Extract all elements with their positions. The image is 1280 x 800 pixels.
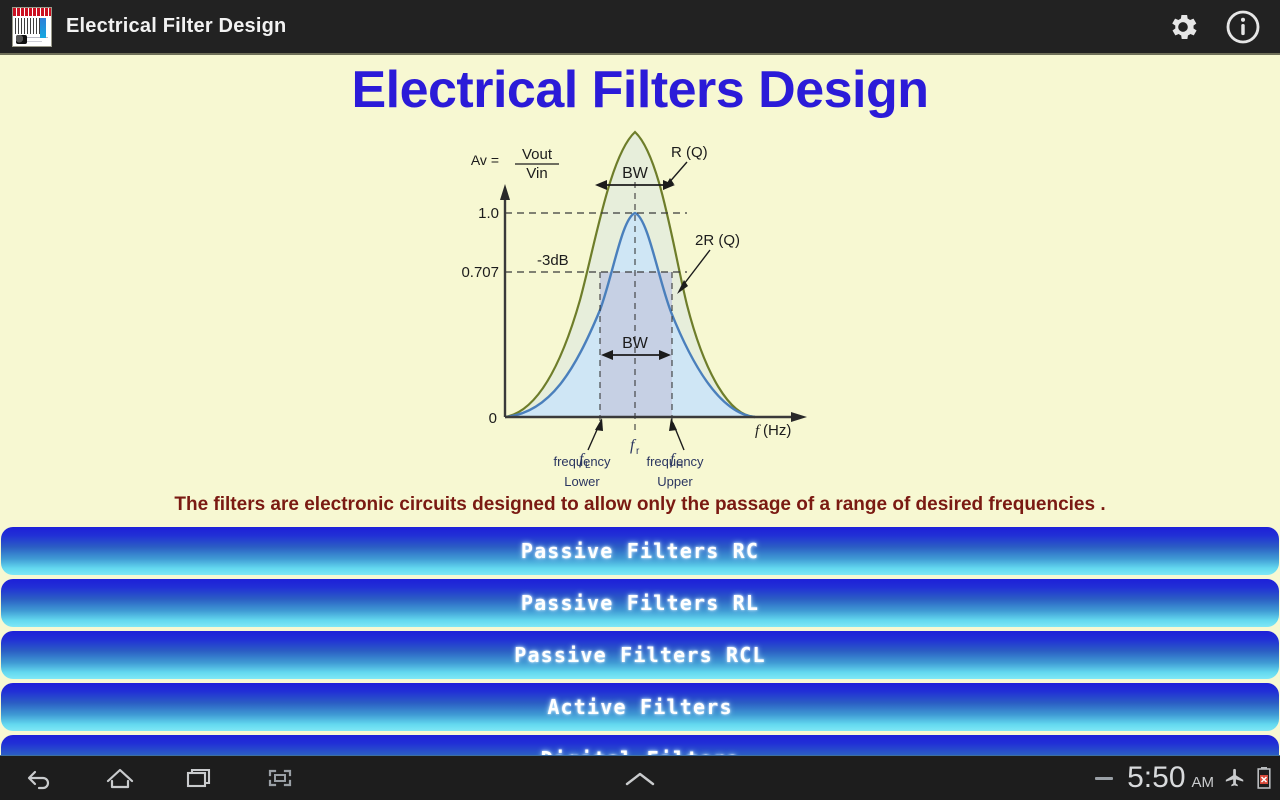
filter-button-label: Active Filters: [547, 695, 732, 719]
android-navigation-bar: 5:50 AM: [0, 755, 1280, 800]
filter-button-passive-rc[interactable]: Passive Filters RC: [1, 527, 1279, 575]
tick-label-1.0: 1.0: [478, 205, 499, 222]
bw-bottom-label: BW: [622, 335, 649, 352]
battery-error-icon: [1256, 766, 1272, 790]
back-icon[interactable]: [0, 756, 80, 800]
fl-caption-line1: Lower: [564, 474, 600, 489]
main-content: Electrical Filters Design: [0, 55, 1280, 755]
clock-ampm: AM: [1192, 775, 1215, 790]
notification-dash-icon: [1095, 777, 1113, 780]
title-bar: Electrical Filter Design: [0, 0, 1280, 55]
clock-time: 5:50: [1127, 763, 1185, 793]
chevron-up-icon[interactable]: [600, 756, 680, 800]
bw-top-label: BW: [622, 165, 649, 182]
bw-top-arrow-left: [595, 180, 607, 190]
filter-button-passive-rl[interactable]: Passive Filters RL: [1, 579, 1279, 627]
app-root: Electrical Filter Design Electrical Filt…: [0, 0, 1280, 800]
filter-app-icon: [12, 7, 52, 47]
x-axis-label-f: f: [755, 423, 761, 439]
fh-caption-line2: frequency: [646, 454, 703, 469]
x-axis-arrowhead: [791, 412, 807, 422]
filter-response-chart: Av = Vout Vin 1.0 0.707 0 -3dB BW BW R (…: [455, 120, 825, 490]
filter-button-active[interactable]: Active Filters: [1, 683, 1279, 731]
info-icon[interactable]: [1220, 4, 1266, 50]
filter-button-label: Passive Filters RL: [521, 591, 759, 615]
figure-container: Av = Vout Vin 1.0 0.707 0 -3dB BW BW R (…: [0, 120, 1280, 490]
home-icon[interactable]: [80, 756, 160, 800]
y-axis-ratio-prefix: Av =: [471, 152, 499, 168]
filter-button-label: Passive Filters RCL: [514, 643, 766, 667]
app-title: Electrical Filter Design: [66, 15, 286, 38]
app-icon-knob: [16, 35, 27, 44]
screenshot-icon[interactable]: [240, 756, 320, 800]
filter-button-list: Passive Filters RC Passive Filters RL Pa…: [0, 527, 1280, 783]
y-axis-arrowhead: [500, 184, 510, 200]
x-axis-label-hz: (Hz): [763, 422, 791, 439]
pointer-fL-head: [595, 418, 603, 431]
description-text: The filters are electronic circuits desi…: [0, 494, 1280, 516]
page-title: Electrical Filters Design: [0, 55, 1280, 118]
fh-caption-line1: Upper: [657, 474, 693, 489]
curve-outer-label: R (Q): [671, 144, 708, 161]
filter-button-passive-rcl[interactable]: Passive Filters RCL: [1, 631, 1279, 679]
fr-subscript: r: [636, 446, 640, 457]
pointer-fH-head: [669, 418, 677, 431]
y-axis-ratio-denominator: Vin: [526, 165, 547, 182]
navbar-status-group: 5:50 AM: [1095, 756, 1272, 800]
recents-icon[interactable]: [160, 756, 240, 800]
app-icon-waveform: [15, 18, 41, 34]
curve-inner-label: 2R (Q): [695, 232, 740, 249]
tick-label-0.707: 0.707: [461, 264, 499, 281]
fl-caption-line2: frequency: [553, 454, 610, 469]
app-icon-probe: [40, 18, 46, 38]
tick-label-0: 0: [489, 410, 497, 427]
y-axis-ratio-numerator: Vout: [522, 146, 553, 163]
status-clock[interactable]: 5:50 AM: [1127, 763, 1214, 793]
airplane-mode-icon: [1224, 767, 1246, 789]
filter-button-label: Passive Filters RC: [521, 539, 759, 563]
minus-3db-label: -3dB: [537, 252, 569, 269]
app-icon-header-strip: [13, 8, 51, 16]
gear-icon[interactable]: [1160, 4, 1206, 50]
